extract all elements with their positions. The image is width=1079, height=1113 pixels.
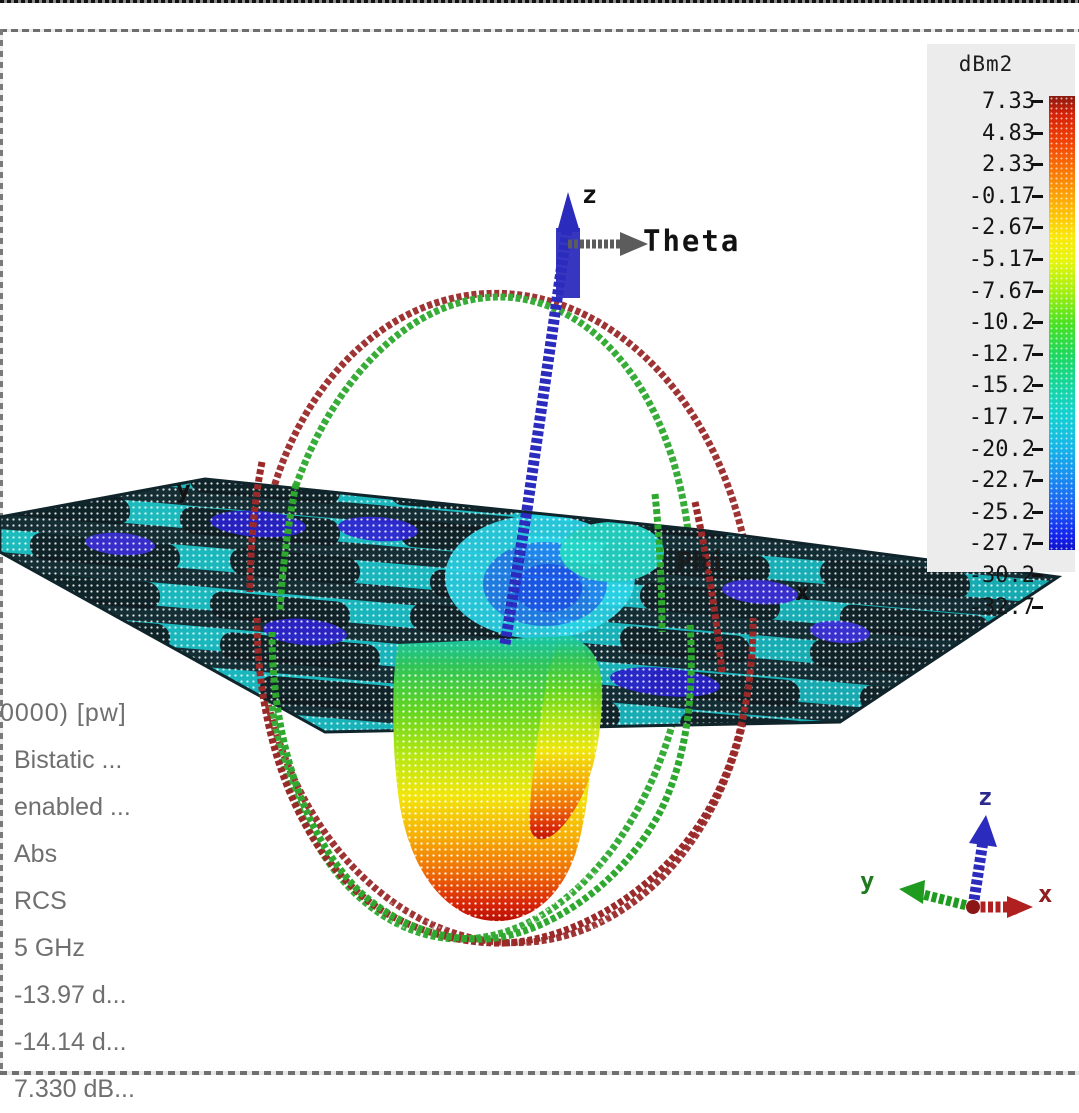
legend-tick-mark	[1032, 353, 1043, 356]
legend-tick-mark	[1032, 606, 1043, 609]
info-line-1: Bistatic ...	[0, 737, 230, 784]
info-line-3: Abs	[0, 831, 230, 878]
legend-tick-label: 7.33	[982, 89, 1035, 114]
triad-canvas	[855, 785, 1060, 935]
color-bar-dither	[1049, 96, 1075, 550]
legend-tick-list: 7.334.832.33-0.17-2.67-5.17-7.67-10.2-12…	[927, 86, 1043, 623]
axis-label-x: x	[795, 577, 810, 606]
triad-z-axis	[969, 815, 997, 907]
legend-tick-13: -25.2	[927, 497, 1043, 529]
legend-tick-mark	[1032, 384, 1043, 387]
z-axis-arrow	[527, 192, 580, 510]
legend-tick-label: -15.2	[969, 373, 1035, 398]
legend-tick-mark	[1032, 258, 1043, 261]
legend-tick-4: -2.67	[927, 212, 1043, 244]
theta-angle-label: Theta	[643, 224, 740, 258]
legend-tick-label: -32.7	[969, 595, 1035, 620]
legend-tick-11: -20.2	[927, 434, 1043, 466]
legend-tick-3: -0.17	[927, 181, 1043, 213]
info-line-7: -14.14 d...	[0, 1019, 230, 1066]
legend-tick-label: -2.67	[969, 215, 1035, 240]
legend-tick-mark	[1032, 416, 1043, 419]
legend-tick-mark	[1032, 321, 1043, 324]
axis-label-y: y	[176, 475, 191, 504]
legend-tick-8: -12.7	[927, 339, 1043, 371]
legend-tick-mark	[1032, 479, 1043, 482]
triad-origin	[966, 900, 980, 914]
legend-tick-5: -5.17	[927, 244, 1043, 276]
triad-x-axis	[973, 896, 1033, 918]
legend-tick-mark	[1032, 542, 1043, 545]
legend-tick-label: -0.17	[969, 184, 1035, 209]
legend-tick-mark	[1032, 448, 1043, 451]
legend-tick-6: -7.67	[927, 276, 1043, 308]
legend-tick-10: -17.7	[927, 402, 1043, 434]
legend-tick-label: -5.17	[969, 247, 1035, 272]
legend-unit-title: dBm2	[927, 52, 1045, 76]
legend-tick-mark	[1032, 511, 1043, 514]
phi-angle-label: Phi	[676, 547, 725, 578]
legend-tick-label: -22.7	[969, 468, 1035, 493]
triad-y-axis	[899, 880, 973, 907]
legend-tick-14: -27.7	[927, 528, 1043, 560]
legend-tick-0: 7.33	[927, 86, 1043, 118]
plot-info-text: 0000) [pw]Bistatic ...enabled ...AbsRCS5…	[0, 690, 230, 1113]
triad-label-z: z	[978, 783, 992, 811]
legend-tick-mark	[1032, 574, 1043, 577]
info-line-8: 7.330 dB...	[0, 1066, 230, 1113]
triad-label-x: x	[1038, 880, 1052, 908]
farfield-plot-window: z x y Theta Phi dBm2 7.334.832.33-0.17-2…	[0, 0, 1079, 1079]
axis-orientation-widget[interactable]: z x y	[855, 785, 1060, 935]
legend-tick-label: -30.2	[969, 563, 1035, 588]
main-lobe	[380, 622, 620, 952]
triad-label-y: y	[860, 867, 874, 895]
legend-tick-label: 2.33	[982, 152, 1035, 177]
legend-tick-mark	[1032, 290, 1043, 293]
legend-tick-label: -27.7	[969, 531, 1035, 556]
color-legend-panel[interactable]: dBm2 7.334.832.33-0.17-2.67-5.17-7.67-10…	[927, 44, 1075, 572]
legend-tick-2: 2.33	[927, 149, 1043, 181]
legend-tick-16: -32.7	[927, 592, 1043, 624]
legend-tick-mark	[1032, 163, 1043, 166]
legend-tick-label: -20.2	[969, 437, 1035, 462]
legend-tick-label: -10.2	[969, 310, 1035, 335]
legend-tick-mark	[1032, 100, 1043, 103]
legend-tick-mark	[1032, 132, 1043, 135]
info-line-5: 5 GHz	[0, 925, 230, 972]
info-line-6: -13.97 d...	[0, 972, 230, 1019]
legend-tick-label: -25.2	[969, 500, 1035, 525]
legend-tick-label: -7.67	[969, 279, 1035, 304]
legend-tick-label: -17.7	[969, 405, 1035, 430]
legend-tick-1: 4.83	[927, 118, 1043, 150]
info-line-0: 0000) [pw]	[0, 690, 230, 737]
info-line-4: RCS	[0, 878, 230, 925]
legend-tick-mark	[1032, 226, 1043, 229]
legend-tick-7: -10.2	[927, 307, 1043, 339]
legend-tick-15: -30.2	[927, 560, 1043, 592]
legend-tick-9: -15.2	[927, 370, 1043, 402]
info-line-2: enabled ...	[0, 784, 230, 831]
legend-tick-mark	[1032, 195, 1043, 198]
legend-tick-label: -12.7	[969, 342, 1035, 367]
legend-tick-label: 4.83	[982, 121, 1035, 146]
window-top-hairline	[0, 0, 1079, 3]
axis-label-z: z	[582, 180, 597, 209]
legend-tick-12: -22.7	[927, 465, 1043, 497]
